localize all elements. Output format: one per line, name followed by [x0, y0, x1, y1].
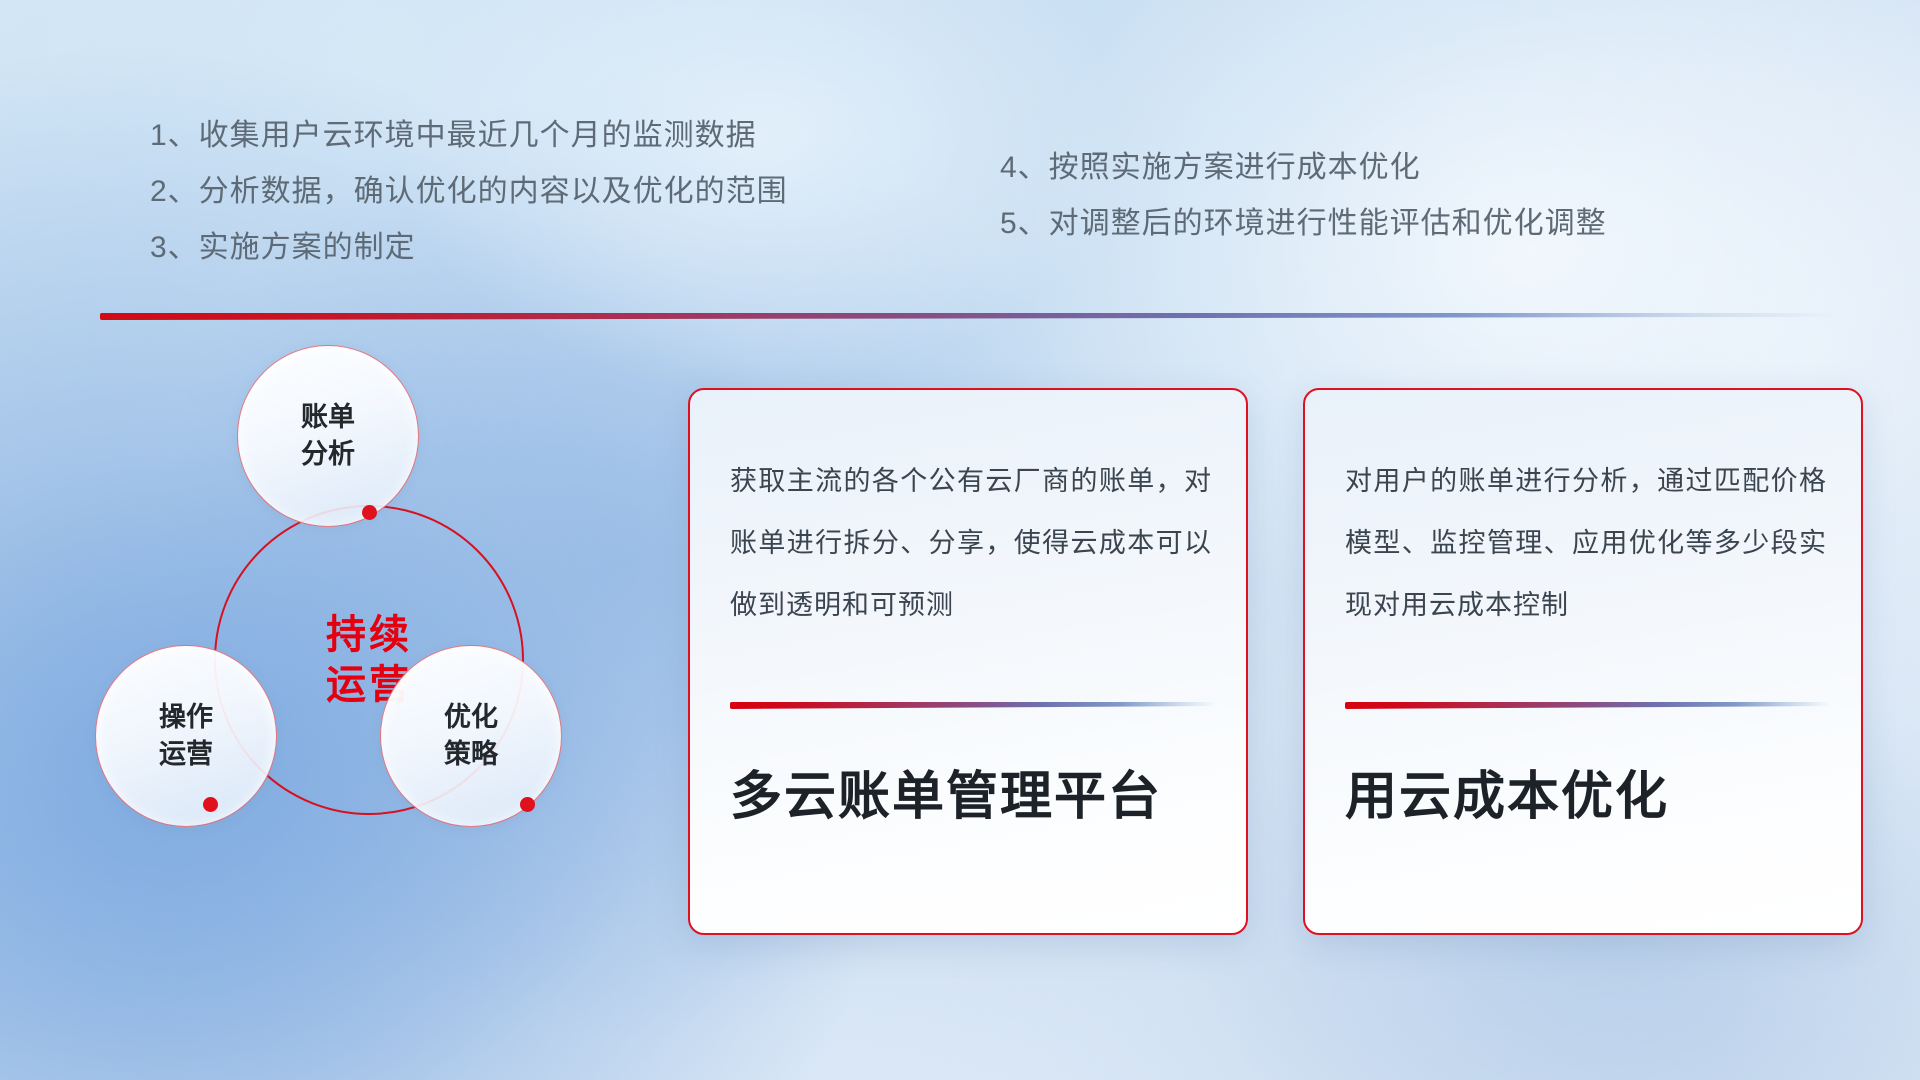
connector-dot-top [362, 505, 377, 520]
card-title: 用云成本优化 [1345, 762, 1827, 832]
venn-node-label-line2: 运营 [159, 736, 213, 773]
feature-card-cost-optimization[interactable]: 对用户的账单进行分析，通过匹配价格模型、监控管理、应用优化等多少段实现对用云成本… [1303, 388, 1863, 935]
step-item-1: 1、收集用户云环境中最近几个月的监测数据 [150, 108, 788, 164]
step-item-4: 4、按照实施方案进行成本优化 [1000, 140, 1607, 196]
card-title: 多云账单管理平台 [730, 762, 1212, 832]
venn-node-label-line1: 操作 [159, 699, 213, 736]
card-divider-rule [730, 702, 1216, 709]
slide-canvas: 1、收集用户云环境中最近几个月的监测数据 2、分析数据，确认优化的内容以及优化的… [0, 0, 1920, 1080]
venn-node-operations[interactable]: 操作 运营 [95, 645, 277, 827]
connector-dot-left [203, 797, 218, 812]
venn-node-label-line1: 账单 [301, 399, 355, 436]
connector-dot-right [520, 797, 535, 812]
venn-node-optimization-strategy[interactable]: 优化 策略 [380, 645, 562, 827]
step-item-3: 3、实施方案的制定 [150, 220, 788, 276]
steps-list-left: 1、收集用户云环境中最近几个月的监测数据 2、分析数据，确认优化的内容以及优化的… [150, 108, 788, 276]
step-item-5: 5、对调整后的环境进行性能评估和优化调整 [1000, 196, 1607, 252]
card-body-text: 对用户的账单进行分析，通过匹配价格模型、监控管理、应用优化等多少段实现对用云成本… [1345, 450, 1827, 636]
venn-node-label-line2: 分析 [301, 436, 355, 473]
card-divider-rule [1345, 702, 1831, 709]
venn-node-label-line2: 策略 [444, 736, 498, 773]
card-body-text: 获取主流的各个公有云厂商的账单，对账单进行拆分、分享，使得云成本可以做到透明和可… [730, 450, 1212, 636]
venn-node-bill-analysis[interactable]: 账单 分析 [237, 345, 419, 527]
steps-list-right: 4、按照实施方案进行成本优化 5、对调整后的环境进行性能评估和优化调整 [1000, 140, 1607, 252]
section-divider-rule [100, 313, 1835, 320]
center-label-line1: 持续 [326, 610, 412, 660]
venn-node-label-line1: 优化 [444, 699, 498, 736]
feature-card-multicloud-billing[interactable]: 获取主流的各个公有云厂商的账单，对账单进行拆分、分享，使得云成本可以做到透明和可… [688, 388, 1248, 935]
step-item-2: 2、分析数据，确认优化的内容以及优化的范围 [150, 164, 788, 220]
venn-diagram: 持续 运营 账单 分析 操作 运营 优化 策略 [95, 345, 635, 945]
